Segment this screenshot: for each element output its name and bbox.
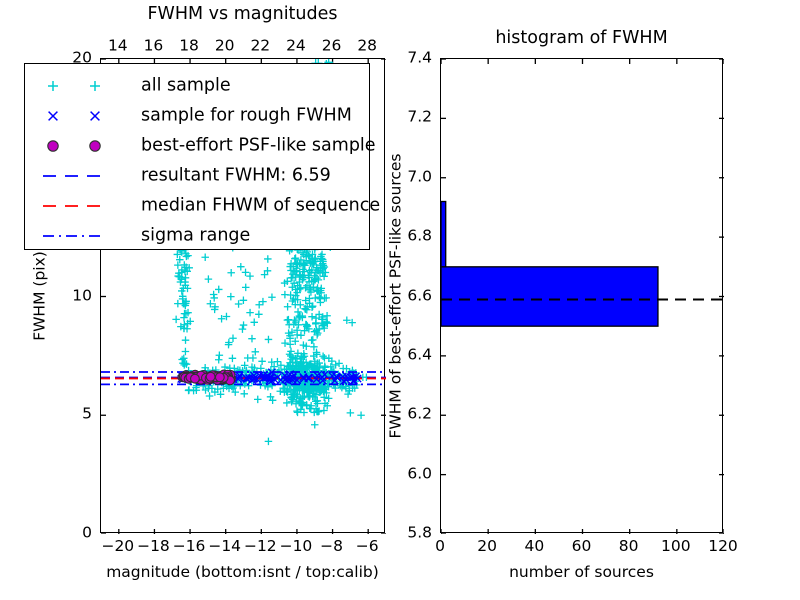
scatter-xtick-label: −18 bbox=[137, 539, 170, 555]
hist-xtick-label: 80 bbox=[619, 539, 639, 555]
all-sample-point bbox=[227, 293, 235, 301]
all-sample-point bbox=[227, 269, 235, 277]
legend-marker-cross-icon bbox=[25, 101, 137, 131]
all-sample-point bbox=[308, 336, 316, 344]
histogram-title: histogram of FWHM bbox=[495, 30, 667, 48]
all-sample-point bbox=[323, 312, 331, 320]
hist-xtick-label: 20 bbox=[477, 539, 497, 555]
all-sample-point bbox=[240, 321, 248, 329]
hist-xtick-label: 120 bbox=[708, 539, 738, 555]
circle-icon bbox=[90, 141, 100, 151]
scatter-ytick-label: 10 bbox=[72, 288, 92, 304]
psf-sample-point bbox=[215, 373, 224, 382]
histogram-ylabel: FWHM of best-effort PSF-like sources bbox=[388, 153, 404, 438]
legend-item-label: all sample bbox=[141, 77, 231, 95]
all-sample-point bbox=[281, 339, 289, 347]
hist-ytick-label: 6.0 bbox=[407, 466, 432, 482]
all-sample-point bbox=[216, 352, 224, 360]
histogram-bar bbox=[441, 202, 446, 267]
legend-sample bbox=[25, 131, 137, 161]
all-sample-point bbox=[237, 263, 245, 271]
scatter-top-xtick-label: 22 bbox=[250, 39, 270, 55]
all-sample-point bbox=[240, 297, 248, 305]
legend-item-label: best-effort PSF-like sample bbox=[141, 137, 376, 155]
hist-ytick-label: 6.2 bbox=[407, 407, 432, 423]
all-sample-point bbox=[229, 334, 237, 342]
scatter-xtick-label: −14 bbox=[208, 539, 241, 555]
all-sample-point bbox=[182, 274, 190, 282]
hist-ytick-label: 7.0 bbox=[407, 169, 432, 185]
scatter-top-xtick-label: 14 bbox=[108, 39, 128, 55]
figure-canvas: −20−18−16−14−12−10−8−6141618202224262805… bbox=[0, 0, 800, 600]
all-sample-point bbox=[172, 316, 180, 324]
cross-icon bbox=[91, 112, 100, 121]
hist-ytick-label: 5.8 bbox=[407, 525, 432, 541]
all-sample-point bbox=[174, 261, 182, 269]
legend-box: all samplesample for rough FWHMbest-effo… bbox=[24, 63, 370, 250]
scatter-xtick-label: −20 bbox=[101, 539, 134, 555]
all-sample-point bbox=[182, 348, 190, 356]
scatter-ylabel: FWHM (pix) bbox=[32, 251, 48, 341]
all-sample-point bbox=[250, 319, 257, 327]
legend-item-label: sample for rough FWHM bbox=[141, 107, 352, 125]
all-sample-point bbox=[182, 336, 190, 344]
hist-ytick-label: 6.4 bbox=[407, 347, 432, 363]
legend-item-dashed-line[interactable]: resultant FWHM: 6.59 bbox=[25, 161, 369, 191]
hist-xtick-label: 100 bbox=[661, 539, 691, 555]
all-sample-point bbox=[320, 407, 328, 415]
legend-item-dashdot-line[interactable]: sigma range bbox=[25, 221, 369, 251]
all-sample-point bbox=[357, 412, 365, 420]
psf-sample-point bbox=[206, 372, 215, 381]
scatter-title: FWHM vs magnitudes bbox=[147, 6, 337, 24]
all-sample-point bbox=[210, 294, 218, 302]
all-sample-point bbox=[347, 409, 355, 417]
all-sample-point bbox=[246, 309, 254, 317]
legend-sample bbox=[25, 101, 137, 131]
all-sample-point bbox=[242, 284, 250, 292]
hist-ytick-label: 7.4 bbox=[407, 50, 432, 66]
legend-sample bbox=[25, 221, 137, 251]
all-sample-point bbox=[258, 358, 266, 366]
legend-item-label: median FHWM of sequence bbox=[141, 197, 380, 215]
legend-marker-circle-icon bbox=[25, 131, 137, 161]
legend-item-label: sigma range bbox=[141, 227, 250, 245]
all-sample-point bbox=[206, 392, 214, 400]
legend-item-plus[interactable]: all sample bbox=[25, 71, 369, 101]
all-sample-point bbox=[284, 303, 292, 311]
circle-icon bbox=[48, 141, 58, 151]
all-sample-point bbox=[201, 253, 209, 261]
legend-sample bbox=[25, 161, 137, 191]
all-sample-point bbox=[277, 362, 285, 370]
all-sample-point bbox=[332, 361, 340, 369]
scatter-ytick-label: 0 bbox=[82, 525, 92, 541]
histogram-bar bbox=[441, 267, 658, 326]
all-sample-point bbox=[255, 311, 263, 319]
all-sample-point bbox=[205, 275, 213, 283]
all-sample-point bbox=[265, 336, 273, 344]
hist-xtick-label: 0 bbox=[435, 539, 445, 555]
psf-sample-points bbox=[178, 370, 235, 385]
all-sample-point bbox=[242, 269, 250, 277]
all-sample-point bbox=[285, 316, 293, 324]
cross-icon bbox=[49, 112, 58, 121]
all-sample-point bbox=[235, 300, 243, 308]
scatter-ytick-label: 5 bbox=[82, 407, 92, 423]
legend-item-circle[interactable]: best-effort PSF-like sample bbox=[25, 131, 369, 161]
all-sample-point bbox=[265, 438, 273, 446]
scatter-xlabel: magnitude (bottom:isnt / top:calib) bbox=[106, 565, 379, 581]
psf-sample-point bbox=[191, 374, 200, 383]
all-sample-point bbox=[283, 399, 291, 407]
all-sample-point bbox=[281, 291, 289, 299]
scatter-xtick-label: −10 bbox=[280, 539, 313, 555]
legend-marker-dashed-line-icon bbox=[25, 161, 137, 191]
scatter-top-xtick-label: 24 bbox=[286, 39, 306, 55]
all-sample-point bbox=[248, 335, 256, 343]
legend-sample bbox=[25, 191, 137, 221]
histogram-xlabel: number of sources bbox=[509, 565, 654, 581]
scatter-top-xtick-label: 18 bbox=[179, 39, 199, 55]
hist-xtick-label: 60 bbox=[572, 539, 592, 555]
scatter-xtick-label: −8 bbox=[320, 539, 343, 555]
all-sample-point bbox=[174, 300, 182, 308]
scatter-xtick-label: −6 bbox=[356, 539, 379, 555]
legend-item-cross[interactable]: sample for rough FWHM bbox=[25, 101, 369, 131]
histogram-plot-area bbox=[441, 59, 724, 534]
hist-ytick-label: 7.2 bbox=[407, 110, 432, 126]
all-sample-point bbox=[244, 354, 252, 362]
all-sample-point bbox=[268, 293, 276, 301]
scatter-xtick-label: −12 bbox=[244, 539, 277, 555]
scatter-xtick-label: −16 bbox=[173, 539, 206, 555]
legend-item-dashed-line[interactable]: median FHWM of sequence bbox=[25, 191, 369, 221]
all-sample-point bbox=[185, 387, 193, 395]
all-sample-point bbox=[239, 325, 247, 333]
all-sample-point bbox=[320, 273, 328, 281]
legend-item-label: resultant FWHM: 6.59 bbox=[141, 167, 331, 185]
all-sample-point bbox=[229, 355, 237, 363]
all-sample-point bbox=[264, 255, 272, 263]
scatter-top-xtick-label: 26 bbox=[322, 39, 342, 55]
all-sample-point bbox=[246, 272, 254, 280]
plus-icon bbox=[90, 81, 100, 91]
all-sample-point bbox=[293, 407, 301, 415]
all-sample-point bbox=[241, 390, 249, 398]
scatter-top-xtick-label: 28 bbox=[357, 39, 377, 55]
legend-sample bbox=[25, 71, 137, 101]
all-sample-point bbox=[308, 313, 316, 321]
all-sample-point bbox=[311, 421, 319, 429]
all-sample-point bbox=[321, 354, 329, 362]
legend-marker-plus-icon bbox=[25, 71, 137, 101]
all-sample-point bbox=[215, 286, 223, 294]
all-sample-point bbox=[254, 396, 262, 404]
legend-marker-dashdot-line-icon bbox=[25, 221, 137, 251]
plus-icon bbox=[48, 81, 58, 91]
legend-marker-dashed-line-icon bbox=[25, 191, 137, 221]
all-sample-point bbox=[321, 263, 329, 271]
all-sample-point bbox=[312, 294, 320, 302]
all-sample-point bbox=[335, 360, 343, 368]
all-sample-point bbox=[301, 261, 309, 269]
hist-ytick-label: 6.8 bbox=[407, 228, 432, 244]
all-sample-point bbox=[322, 294, 330, 302]
all-sample-point bbox=[317, 299, 325, 307]
all-sample-point bbox=[297, 332, 305, 340]
scatter-top-xtick-label: 16 bbox=[144, 39, 164, 55]
histogram-axes bbox=[440, 58, 723, 533]
hist-ytick-label: 6.6 bbox=[407, 288, 432, 304]
scatter-top-xtick-label: 20 bbox=[215, 39, 235, 55]
hist-xtick-label: 40 bbox=[524, 539, 544, 555]
